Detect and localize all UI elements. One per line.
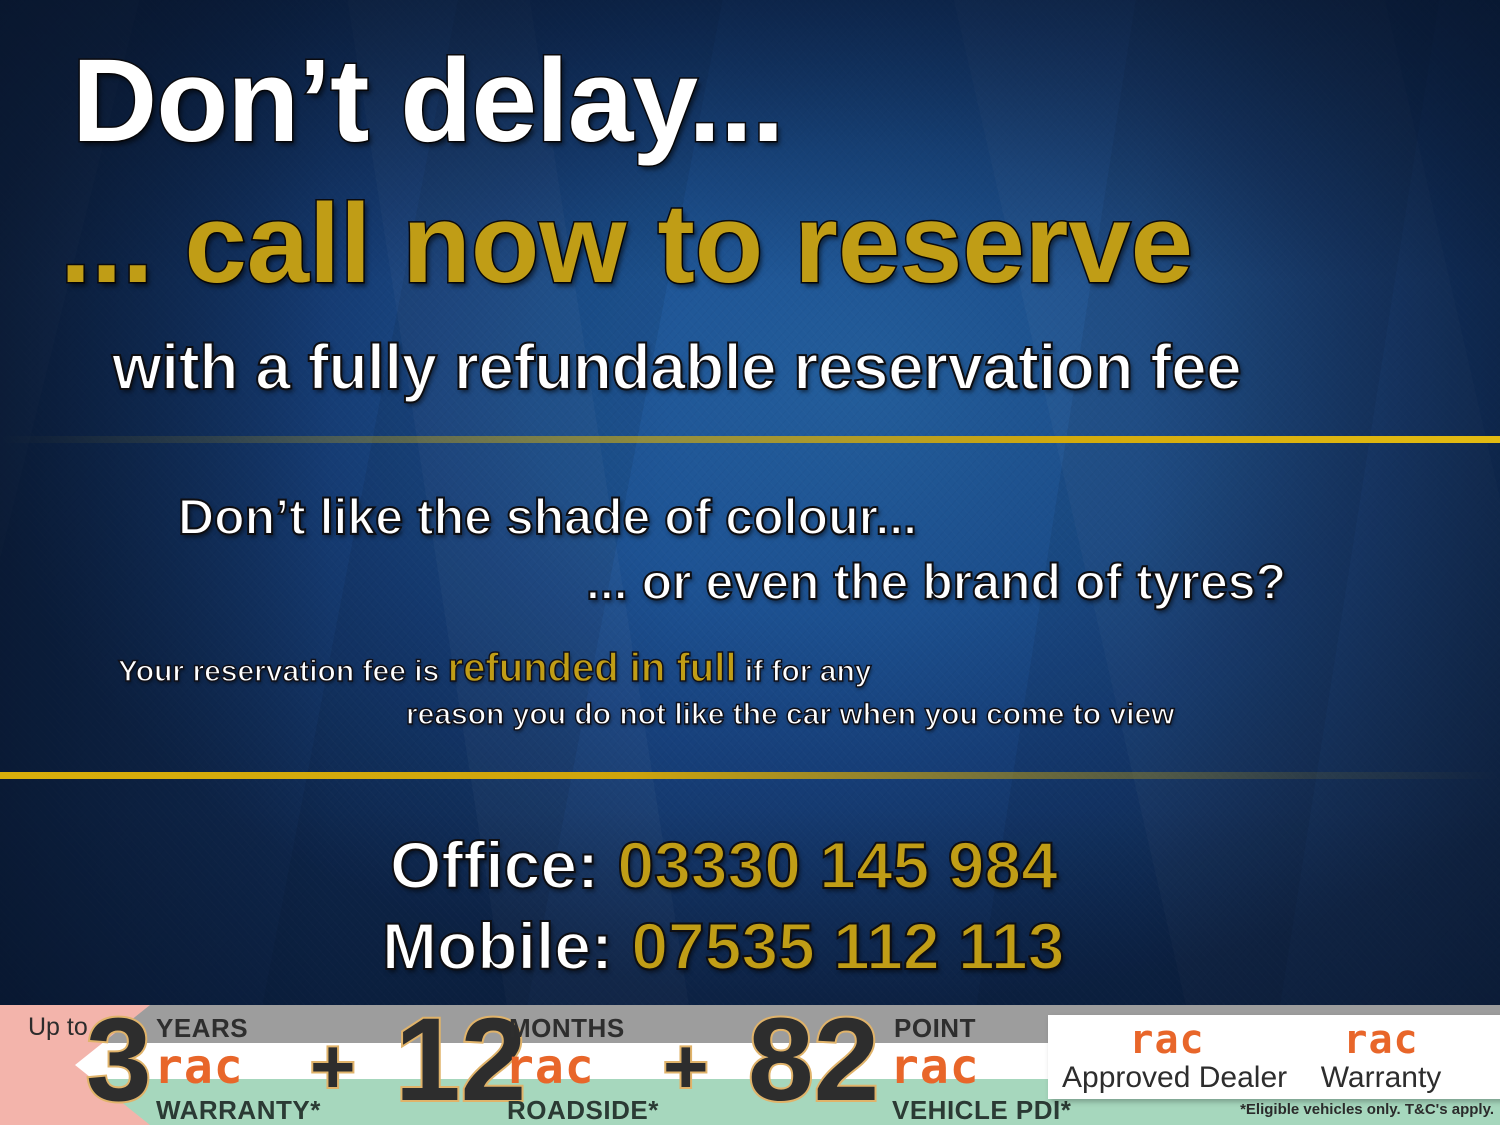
- headline-line-3: with a fully refundable reservation fee: [112, 335, 1241, 399]
- offer-item-roadside: 12 MONTHS rac ROADSIDE*: [395, 1005, 695, 1125]
- offer-number-pdi: 82: [748, 1005, 879, 1119]
- offer-item-warranty: Up to 3 YEARS rac WARRANTY*: [0, 1005, 300, 1125]
- office-phone-number[interactable]: 03330 145 984: [617, 828, 1057, 902]
- rac-logo-pdi: rac: [890, 1043, 980, 1091]
- question-line-1: Don’t like the shade of colour...: [178, 492, 917, 542]
- office-label: Office:: [390, 828, 599, 902]
- refund-text-emphasis: refunded in full: [448, 646, 737, 690]
- refund-line-2: reason you do not like the car when you …: [406, 700, 1175, 730]
- rac-badge-warranty: rac Warranty: [1276, 1019, 1486, 1094]
- advert-poster: Don’t delay... ... call now to reserve w…: [0, 0, 1500, 1125]
- office-phone-row[interactable]: Office: 03330 145 984: [390, 832, 1058, 898]
- offer-bottom-label-roadside: ROADSIDE*: [507, 1095, 659, 1125]
- offer-bottom-label-pdi: VEHICLE PDI*: [892, 1095, 1071, 1125]
- gold-divider-top: [0, 436, 1500, 443]
- rac-badge-caption-approved-dealer: Approved Dealer: [1062, 1061, 1272, 1094]
- rac-logo-roadside: rac: [505, 1043, 595, 1091]
- rac-badge-approved-dealer: rac Approved Dealer: [1062, 1019, 1272, 1094]
- gold-divider-bottom: [0, 772, 1500, 779]
- mobile-label: Mobile:: [382, 909, 613, 983]
- rac-badge-caption-warranty: Warranty: [1276, 1061, 1486, 1094]
- refund-line-1: Your reservation fee is refunded in full…: [118, 648, 871, 688]
- refund-text-pre: Your reservation fee is: [118, 655, 448, 688]
- rac-logo-warranty-badge: rac: [1276, 1019, 1486, 1061]
- banner-fineprint: *Eligible vehicles only. T&C's apply.: [1240, 1101, 1494, 1118]
- headline-line-2: ... call now to reserve: [60, 188, 1193, 300]
- plus-separator-2: +: [663, 1027, 709, 1105]
- offer-item-pdi: 82 POINT rac VEHICLE PDI*: [748, 1005, 1048, 1125]
- offer-number-warranty: 3: [86, 1005, 152, 1119]
- refund-text-post: if for any: [736, 655, 871, 688]
- up-to-label: Up to: [28, 1013, 88, 1042]
- mobile-phone-number[interactable]: 07535 112 113: [631, 909, 1064, 983]
- plus-separator-1: +: [310, 1027, 356, 1105]
- mobile-phone-row[interactable]: Mobile: 07535 112 113: [382, 913, 1064, 979]
- rac-badge-box: rac Approved Dealer rac Warranty: [1048, 1015, 1500, 1099]
- offer-bottom-label-warranty: WARRANTY*: [156, 1095, 321, 1125]
- question-line-2: ... or even the brand of tyres?: [586, 557, 1286, 607]
- rac-logo-approved-dealer: rac: [1062, 1019, 1272, 1061]
- headline-line-1: Don’t delay...: [72, 42, 784, 160]
- rac-logo-warranty: rac: [154, 1043, 244, 1091]
